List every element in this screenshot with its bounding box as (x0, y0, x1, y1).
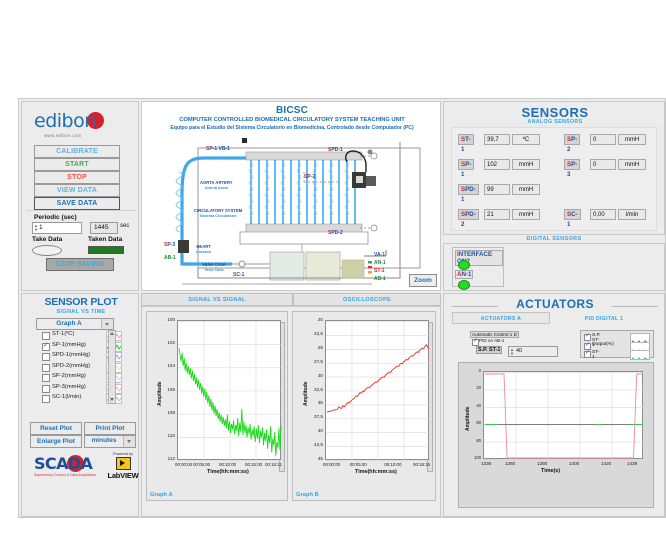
graph-a-name: Graph A (150, 492, 173, 498)
x-axis-tick: 00:05:00 (350, 462, 367, 467)
sensor-unit: ºC (512, 134, 540, 145)
divider (26, 210, 136, 211)
time-unit-value: minutes (85, 437, 123, 444)
signal-label: SP-1(mmHg) (52, 342, 86, 348)
signal-checkbox[interactable] (42, 332, 50, 340)
x-axis-tick: 00:18:11 (265, 462, 282, 467)
sensor-tag: SP-2 (564, 134, 580, 145)
tab-signal-vs-signal[interactable]: SIGNAL VS SIGNAL (141, 293, 293, 306)
scroll-up-icon[interactable] (109, 331, 115, 337)
sensor-value: 99 (484, 184, 510, 195)
scada-logo-text: SCADA (34, 454, 92, 473)
tag-ab1: AB-1 (164, 255, 176, 261)
y-axis-tick: 108 (161, 410, 175, 415)
powered-by-label: Powered by (106, 452, 140, 456)
y-axis-title: Amplitude (465, 407, 471, 431)
periodic-label: Periodic (sec) (34, 214, 77, 221)
signal-vs-time-tab[interactable]: SIGNAL VS TIME (22, 309, 140, 315)
tab-actuators-a[interactable]: ACTUATORS A (452, 312, 550, 324)
sensor-tag: SC-1 (564, 209, 581, 220)
graph-select-value: Graph A (37, 320, 101, 327)
x-axis-tick: 1420 (601, 461, 611, 466)
setpoint-tag: S.P. ST-1 (476, 346, 502, 354)
sensor-tag: SP-1 (458, 159, 474, 170)
chevron-down-icon[interactable] (101, 319, 113, 329)
y-axis-tick: 22,5 (307, 331, 323, 336)
sensors-title: SENSORS (444, 105, 666, 120)
taken-seconds-display: 1445 (90, 222, 118, 234)
graph-b-plot[interactable] (325, 320, 429, 460)
signal-checkbox[interactable] (42, 364, 50, 372)
status-led (458, 280, 470, 290)
sensor-value: 39,7 (484, 134, 510, 145)
analog-sensors-subtitle: ANALOG SENSORS (444, 119, 666, 125)
y-axis-tick: 42,5 (307, 442, 323, 447)
signal-list-scrollbar[interactable] (108, 330, 116, 404)
taken-seconds-value: 1445 (94, 224, 108, 231)
digital-sensor-label: AN-1 (455, 270, 473, 279)
sensor-tag: ST-1 (458, 134, 474, 145)
logo-text: edibon (34, 110, 96, 132)
view-data-button[interactable]: VIEW DATA (34, 184, 120, 197)
setpoint-input[interactable]: ▲▼ 40 (508, 346, 558, 357)
sensor-plot-title: SENSOR PLOT (22, 296, 140, 308)
x-axis-tick: 00:00:00 (175, 462, 192, 467)
y-axis-tick: 100 (469, 455, 481, 460)
signal-label: SP-2(mmHg) (52, 373, 86, 379)
tag-sp2: SP-2 (304, 174, 315, 180)
setpoint-value: 40 (516, 347, 522, 356)
signal-label: SP-3(mmHg) (52, 384, 86, 390)
periodic-value: 1 (39, 224, 43, 231)
label-circulatory-system: CIRCULATORY SYSTEMSistema Circulatorio (194, 208, 242, 219)
graph-area: Graph A 11211010810610410210000:00:0000:… (141, 306, 441, 517)
calibrate-button[interactable]: CALIBRATE (34, 145, 120, 158)
tag-va1: VA-1 (374, 252, 385, 258)
signal-checkbox[interactable] (42, 395, 50, 403)
start-button[interactable]: START (34, 158, 120, 171)
stop-saving-button[interactable]: STOP SAVING (46, 258, 114, 271)
sensor-value: 21 (484, 209, 510, 220)
x-axis-tick: 1380 (537, 461, 547, 466)
zoom-button[interactable]: Zoom (409, 274, 437, 287)
y-axis-tick: 0 (469, 368, 481, 373)
sensor-tag: SPD-2 (458, 209, 479, 220)
digital-sensors-box: INTERFACE ON?AN-1 (452, 247, 504, 287)
taken-data-indicator (88, 246, 124, 254)
scada-application-window: edibon www.edibon.com CALIBRATE START ST… (18, 98, 666, 518)
x-axis-tick: 00:10:00 (384, 462, 401, 467)
tab-pid-digital-1[interactable]: PID DIGITAL 1 (550, 312, 658, 324)
diagram-svg (142, 132, 441, 291)
x-axis-title: Time(hh:mm:ss) (207, 469, 249, 475)
automatic-control-group: Automatic Control 1 D PID on AB-1 S.P. S… (470, 331, 542, 353)
digital-sensors-panel: INTERFACE ON?AN-1 (443, 243, 665, 291)
sensor-tag: SP-3 (564, 159, 580, 170)
tag-ab1-legend: AB-1 (374, 276, 386, 282)
y-axis-tick: 35 (307, 400, 323, 405)
tag-st1: ST-1 (374, 268, 385, 274)
x-axis-tick: 1400 (569, 461, 579, 466)
graph-b-card[interactable]: Graph B 4542,54037,53532,53027,52522,520… (292, 311, 436, 501)
graph-select-dropdown[interactable]: Graph A (36, 318, 114, 330)
signal-checkbox[interactable] (42, 374, 50, 382)
logo-url: www.edibon.com (44, 133, 81, 138)
y-axis-tick: 102 (161, 340, 175, 345)
reset-plot-button[interactable]: Reset Plot (30, 422, 82, 435)
y-axis-tick: 110 (161, 433, 175, 438)
y-axis-tick: 112 (161, 456, 175, 461)
edibon-logo: edibon www.edibon.com (30, 108, 130, 144)
y-axis-tick: 45 (307, 456, 323, 461)
graph-b-name: Graph B (296, 492, 319, 498)
signal-label: SPD-2(mmHg) (52, 363, 90, 369)
process-diagram[interactable]: BICSC COMPUTER CONTROLLED BIOMEDICAL CIR… (141, 101, 441, 291)
label-aorta-artery: AORTA ARTERYArteria Aorta (200, 180, 233, 191)
graph-a-card[interactable]: Graph A 11211010810610410210000:00:0000:… (146, 311, 288, 501)
y-axis-title: Amplitude (157, 382, 163, 406)
actuators-panel: ACTUATORS ACTUATORS A PID DIGITAL 1 Auto… (443, 293, 665, 517)
y-axis-tick: 25 (307, 345, 323, 350)
scada-logo-subtitle: Supervisory Control & Data Acquisition (34, 473, 96, 477)
diagram-title: BICSC (142, 105, 441, 116)
y-axis-tick: 80 (469, 438, 481, 443)
tag-sc1: SC-1 (233, 272, 244, 278)
pid-legend-checkbox[interactable] (584, 351, 591, 358)
signal-label: SPD-1(mmHg) (52, 352, 90, 358)
graph-a-plot[interactable] (177, 320, 281, 460)
status-led (458, 260, 470, 270)
save-data-button[interactable]: SAVE DATA (34, 197, 120, 210)
spinner-icon[interactable]: ▲▼ (510, 348, 514, 356)
sensor-unit: l/min (618, 209, 646, 220)
y-axis-tick: 106 (161, 387, 175, 392)
tag-an1: AN-1 (374, 260, 386, 266)
scroll-down-icon[interactable] (109, 397, 115, 403)
diagram-subtitle-en: COMPUTER CONTROLLED BIOMEDICAL CIRCULATO… (142, 117, 441, 123)
x-axis-tick: 1360 (505, 461, 515, 466)
signal-label: ST-1(ºC) (52, 331, 74, 337)
x-axis-tick: 00:15:00 (245, 462, 262, 467)
signal-checkbox[interactable] (42, 385, 50, 393)
x-axis-tick: 00:00:00 (323, 462, 340, 467)
pid-legend: S.P. ST-1Output(%)ST-1 (580, 330, 654, 358)
y-axis-tick: 32,5 (307, 387, 323, 392)
enlarge-plot-button[interactable]: Enlarge Plot (30, 435, 82, 448)
time-unit-dropdown[interactable]: minutes (84, 435, 136, 448)
x-axis-tick: 1439 (627, 461, 637, 466)
tag-spd1: SPD-1 (328, 147, 343, 153)
pid-legend-swatch[interactable] (630, 350, 650, 360)
label-heart: HEARTCorazón (196, 244, 211, 255)
sensor-tag: SPD-1 (458, 184, 479, 195)
take-data-label: Take Data (32, 236, 62, 243)
analog-sensors-grid: ST-139,7ºCSP-20mmHSP-1102mmHSP-30mmHSPD-… (451, 127, 657, 231)
pid-legend-label: Output(%) (592, 342, 614, 347)
y-axis-tick: 100 (161, 317, 175, 322)
x-axis-tick: 1336 (481, 461, 491, 466)
sensor-unit: mmH (618, 134, 646, 145)
y-axis-tick: 30 (307, 373, 323, 378)
labview-label: LabVIEW (106, 471, 140, 480)
signal-checkbox[interactable] (42, 343, 50, 351)
control-panel: edibon www.edibon.com CALIBRATE START ST… (21, 101, 139, 291)
sensor-plot-panel: SENSOR PLOT SIGNAL VS TIME Graph A ST-1(… (21, 293, 139, 517)
scada-logo: SCADA Supervisory Control & Data Acquisi… (34, 454, 100, 480)
signal-label: SC-1(l/min) (52, 394, 81, 400)
y-axis-title: Amplitude (303, 382, 309, 406)
sensor-unit: mmH (618, 159, 646, 170)
tab-oscilloscope[interactable]: OSCILLOSCOPE (293, 293, 441, 306)
labview-logo: Powered by LabVIEW (106, 452, 140, 480)
labview-run-icon (116, 457, 131, 470)
sensors-panel: SENSORS ANALOG SENSORS ST-139,7ºCSP-20mm… (443, 101, 665, 235)
sensor-value: 0 (590, 134, 616, 145)
pid-legend-label: ST-1 (592, 350, 599, 360)
y-axis-tick: 20 (307, 317, 323, 322)
sensor-unit: mmH (512, 209, 540, 220)
y-axis-tick: 20 (469, 385, 481, 390)
taken-data-label: Taken Data (88, 236, 122, 243)
periodic-input[interactable]: ▲▼ 1 (32, 222, 82, 234)
spinner-icon[interactable]: ▲▼ (34, 224, 38, 232)
sensor-value: 102 (484, 159, 510, 170)
seconds-unit-label: sec (120, 223, 129, 229)
stop-button[interactable]: STOP (34, 171, 120, 184)
y-axis-tick: 40 (307, 428, 323, 433)
digital-sensors-title: DIGITAL SENSORS (443, 236, 665, 242)
pid-on-ab1-checkbox[interactable] (472, 339, 479, 346)
pid-graph-card[interactable]: 100806040200133613601380140014201439Ampl… (458, 362, 654, 508)
sensor-unit: mmH (512, 184, 540, 195)
tag-sp1-vb1: SP-1 VB-1 (206, 146, 230, 152)
sensor-value: 0 (590, 159, 616, 170)
print-plot-button[interactable]: Print Plot (84, 422, 136, 435)
x-axis-title: Time(s) (541, 468, 560, 474)
take-data-toggle[interactable] (32, 245, 62, 256)
y-axis-tick: 104 (161, 363, 175, 368)
signal-checkbox[interactable] (42, 353, 50, 361)
graph-tab-strip: SIGNAL VS SIGNAL OSCILLOSCOPE (141, 293, 441, 306)
sensor-value: 0,00 (590, 209, 616, 220)
diagram-subtitle-es: Equipo para el Estudio del Sistema Circu… (142, 125, 441, 131)
y-axis-tick: 27,5 (307, 359, 323, 364)
tag-sp3: SP-3 (164, 242, 175, 248)
label-vena-cava: VENA CAVAVena Cava (202, 262, 226, 273)
pid-on-ab1-label: PID on AB-1 (479, 338, 504, 343)
x-axis-tick: 00:18:15 (413, 462, 430, 467)
tag-spd2: SPD-2 (328, 230, 343, 236)
chevron-down-icon[interactable] (123, 436, 135, 447)
pid-plot-canvas[interactable] (483, 371, 643, 459)
x-axis-title: Time(hh:mm:ss) (355, 469, 397, 475)
sensor-unit: mmH (512, 159, 540, 170)
x-axis-tick: 00:05:00 (193, 462, 210, 467)
y-axis-tick: 37,5 (307, 414, 323, 419)
actuators-title: ACTUATORS (444, 297, 666, 311)
x-axis-tick: 00:10:00 (219, 462, 236, 467)
